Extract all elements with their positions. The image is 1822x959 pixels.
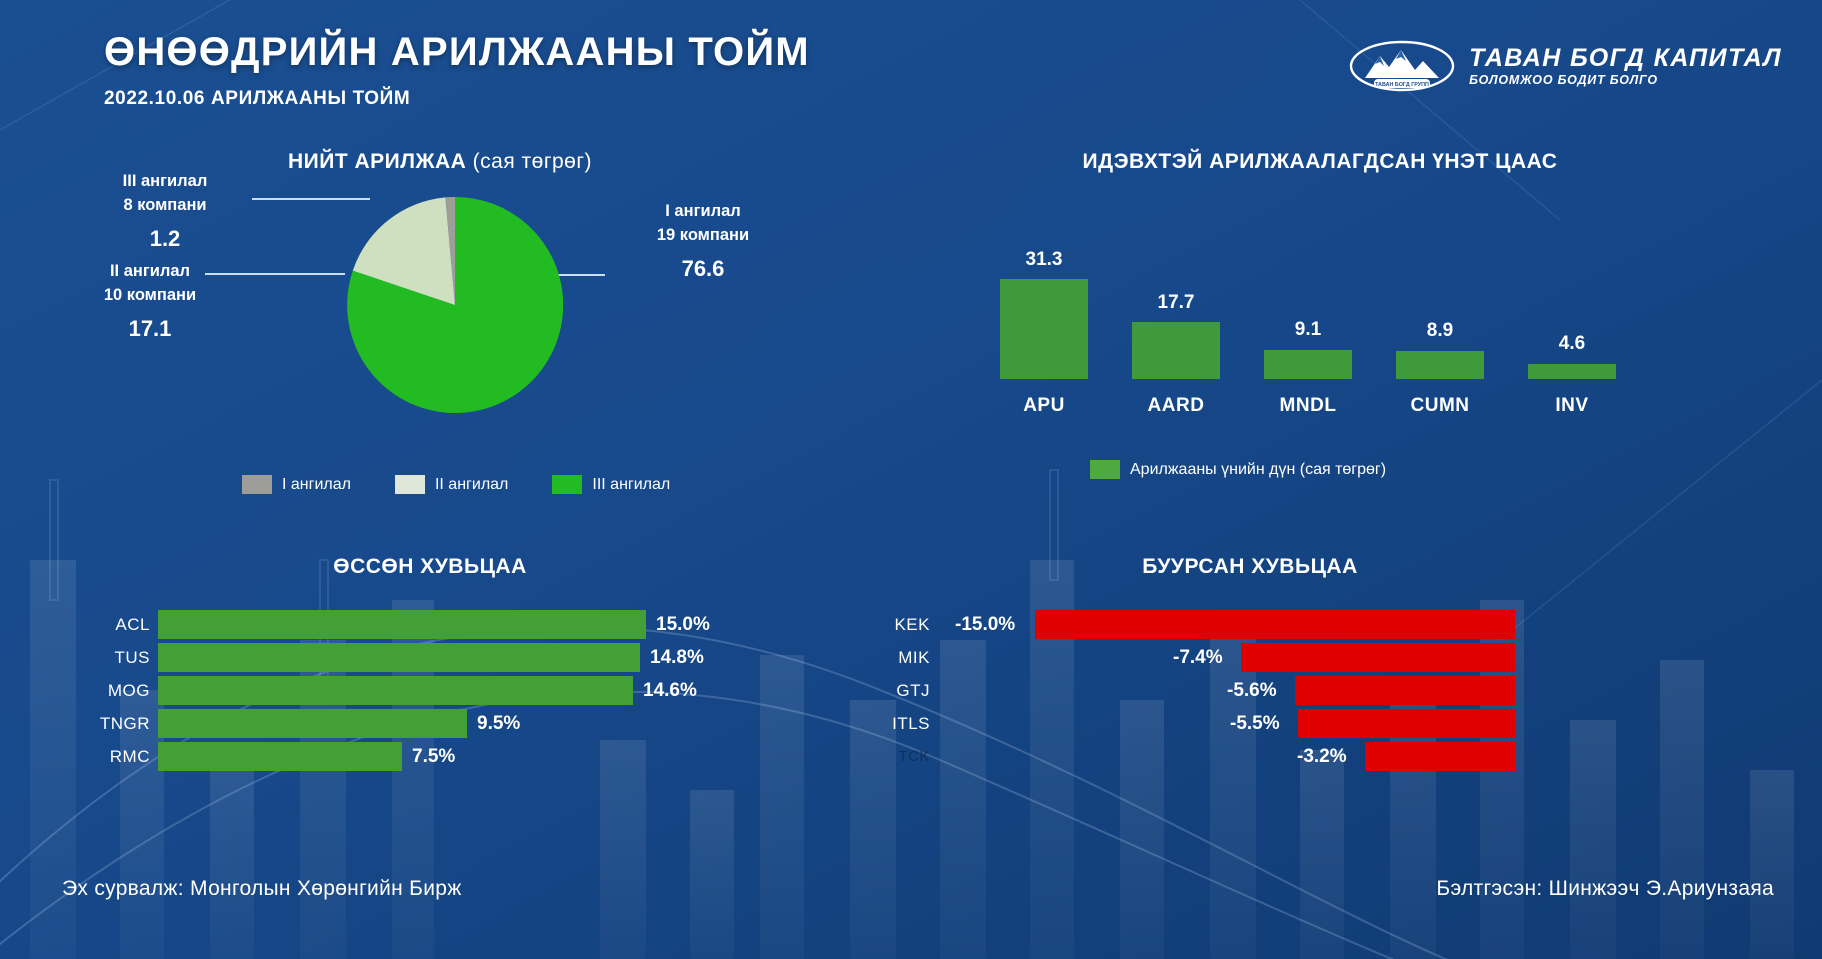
gainer-value: 14.6%: [643, 680, 697, 702]
callout-label-line1: II ангилал: [60, 260, 240, 284]
gainers-row-tngr: TNGR 9.5%: [60, 709, 760, 738]
pie-callout-class3: III ангилал 8 компани 1.2: [80, 170, 250, 255]
losers-row-tck: TCK -3.2%: [860, 742, 1620, 771]
column-bar: [1132, 322, 1220, 379]
column-value: 31.3: [1000, 249, 1088, 271]
legend-label: Арилжааны үнийн дүн (сая төгрөг): [1130, 461, 1386, 479]
pie-legend: I ангилал II ангилал III ангилал: [242, 475, 702, 494]
gainer-value: 7.5%: [412, 746, 455, 768]
legend-item-class2: II ангилал: [395, 475, 508, 494]
loser-value: -5.6%: [1227, 680, 1277, 702]
pie-title-main: НИЙТ АРИЛЖАА: [288, 150, 466, 173]
loser-value: -7.4%: [1173, 647, 1223, 669]
ticker-label: TUS: [60, 648, 150, 668]
company-logo: ТАВАН БОГД ГРУПП ТАВАН БОГД КАПИТАЛ БОЛО…: [1349, 40, 1782, 92]
pie-callout-class2: II ангилал 10 компани 17.1: [60, 260, 240, 345]
callout-label-line1: III ангилал: [80, 170, 250, 194]
ticker-label: RMC: [60, 747, 150, 767]
loser-value: -3.2%: [1297, 746, 1347, 768]
column-bar: [1528, 364, 1616, 379]
ticker-label: KEK: [810, 615, 930, 635]
column-label: INV: [1528, 395, 1616, 417]
legend-item-class3: III ангилал: [552, 475, 670, 494]
losers-row-mik: MIK -7.4%: [860, 643, 1620, 672]
column-legend: Арилжааны үнийн дүн (сая төгрөг): [1090, 460, 1418, 479]
column-value: 9.1: [1264, 319, 1352, 341]
page-subtitle: 2022.10.06 АРИЛЖААНЫ ТОЙМ: [104, 88, 810, 110]
mountain-logo-icon: ТАВАН БОГД ГРУПП: [1349, 40, 1455, 92]
total-trading-pie-panel: НИЙТ АРИЛЖАА (сая төгрөг) III ангилал 8 …: [60, 150, 820, 480]
loser-bar: [1035, 610, 1515, 639]
losers-panel-title: БУУРСАН ХУВЬЦАА: [1060, 555, 1440, 579]
footer-prepared-by: Бэлтгэсэн: Шинжээч Э.Ариунзаяа: [1436, 877, 1774, 901]
column-label: APU: [1000, 395, 1088, 417]
gainers-row-tus: TUS 14.8%: [60, 643, 760, 672]
gainer-bar: [158, 676, 633, 705]
ticker-label: TCK: [810, 748, 930, 765]
ticker-label: ITLS: [810, 714, 930, 734]
gainer-bar: [158, 643, 640, 672]
pie-callout-class1: I ангилал 19 компани 76.6: [613, 200, 793, 285]
gainer-value: 9.5%: [477, 713, 520, 735]
gainer-bar: [158, 709, 467, 738]
ticker-label: TNGR: [60, 714, 150, 734]
callout-label-line2: 8 компани: [80, 194, 250, 218]
column-value: 4.6: [1528, 333, 1616, 355]
loser-bar: [1241, 643, 1515, 672]
gainers-panel-title: ӨССӨН ХУВЬЦАА: [260, 555, 600, 579]
legend-swatch: [242, 475, 272, 494]
losers-row-itls: ITLS -5.5%: [860, 709, 1620, 738]
column-bar: [1264, 350, 1352, 379]
loser-value: -5.5%: [1230, 713, 1280, 735]
ticker-label: ACL: [60, 615, 150, 635]
ticker-label: MOG: [60, 681, 150, 701]
gainers-row-rmc: RMC 7.5%: [60, 742, 760, 771]
callout-label-line2: 10 компани: [60, 284, 240, 308]
loser-bar: [1365, 742, 1515, 771]
legend-swatch: [552, 475, 582, 494]
loser-bar: [1298, 709, 1515, 738]
gainers-panel: ӨССӨН ХУВЬЦАА ACL 15.0% TUS 14.8% MOG 14…: [60, 555, 800, 735]
legend-swatch: [395, 475, 425, 494]
logo-mark-text: ТАВАН БОГД ГРУПП: [1375, 82, 1429, 88]
gainer-bar: [158, 742, 402, 771]
column-label: AARD: [1132, 395, 1220, 417]
loser-value: -15.0%: [955, 614, 1015, 636]
pie-panel-title: НИЙТ АРИЛЖАА (сая төгрөг): [230, 150, 650, 174]
callout-value: 17.1: [60, 313, 240, 345]
callout-label-line2: 19 компани: [613, 224, 793, 248]
loser-bar: [1295, 676, 1515, 705]
ticker-label: GTJ: [810, 681, 930, 701]
callout-value: 1.2: [80, 223, 250, 255]
gainers-row-mog: MOG 14.6%: [60, 676, 760, 705]
losers-row-gtj: GTJ -5.6%: [860, 676, 1620, 705]
pie-title-unit: (сая төгрөг): [473, 150, 592, 173]
column-bar: [1000, 279, 1088, 379]
legend-swatch: [1090, 460, 1120, 479]
legend-item-turnover: Арилжааны үнийн дүн (сая төгрөг): [1090, 460, 1386, 479]
gainer-value: 15.0%: [656, 614, 710, 636]
column-value: 8.9: [1396, 320, 1484, 342]
active-securities-panel: ИДЭВХТЭЙ АРИЛЖААЛАГДСАН ҮНЭТ ЦААС 31.3 A…: [980, 150, 1780, 480]
gainer-bar: [158, 610, 646, 639]
header: ӨНӨӨДРИЙН АРИЛЖААНЫ ТОЙМ 2022.10.06 АРИЛ…: [104, 30, 810, 110]
page-title: ӨНӨӨДРИЙН АРИЛЖААНЫ ТОЙМ: [104, 30, 810, 74]
infographic-slide: ӨНӨӨДРИЙН АРИЛЖААНЫ ТОЙМ 2022.10.06 АРИЛ…: [0, 0, 1822, 959]
legend-label: III ангилал: [592, 476, 670, 494]
gainer-value: 14.8%: [650, 647, 704, 669]
legend-label: I ангилал: [282, 476, 351, 494]
legend-label: II ангилал: [435, 476, 508, 494]
column-value: 17.7: [1132, 292, 1220, 314]
gainers-row-acl: ACL 15.0%: [60, 610, 760, 639]
callout-value: 76.6: [613, 253, 793, 285]
losers-panel: БУУРСАН ХУВЬЦАА KEK -15.0% MIK -7.4% GTJ…: [860, 555, 1660, 735]
callout-label-line1: I ангилал: [613, 200, 793, 224]
logo-tagline: БОЛОМЖОО БОДИТ БОЛГО: [1469, 74, 1782, 87]
column-bar: [1396, 351, 1484, 379]
col-panel-title: ИДЭВХТЭЙ АРИЛЖААЛАГДСАН ҮНЭТ ЦААС: [980, 150, 1660, 174]
column-label: CUMN: [1396, 395, 1484, 417]
losers-row-kek: KEK -15.0%: [860, 610, 1620, 639]
footer-source: Эх сурвалж: Монголын Хөрөнгийн Бирж: [62, 877, 462, 901]
pie-chart: [345, 195, 565, 415]
ticker-label: MIK: [810, 648, 930, 668]
column-label: MNDL: [1264, 395, 1352, 417]
logo-name: ТАВАН БОГД КАПИТАЛ: [1469, 45, 1782, 71]
column-chart: 31.3 APU 17.7 AARD 9.1 MNDL 8.9 CUMN 4.6: [1000, 210, 1620, 425]
legend-item-class1: I ангилал: [242, 475, 351, 494]
